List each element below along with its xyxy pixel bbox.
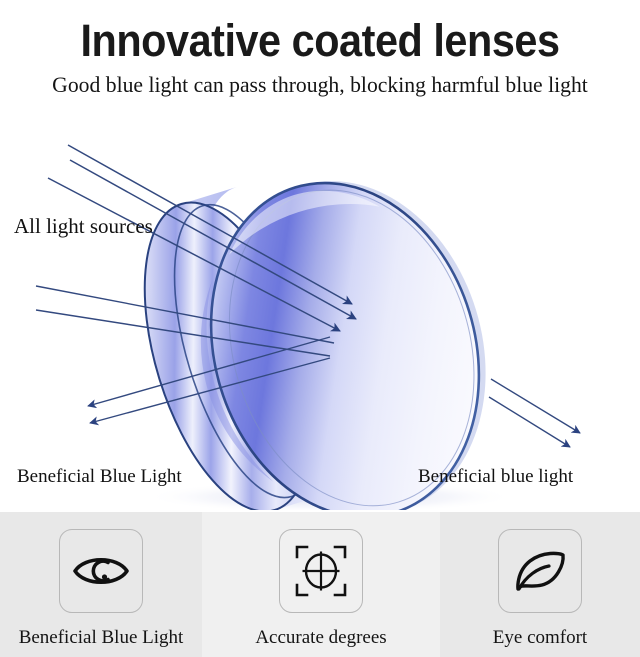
crosshair-icon: [294, 544, 348, 598]
label-beneficial-blue-light-right: Beneficial blue light: [418, 466, 573, 488]
feature-label: Beneficial Blue Light: [19, 627, 184, 649]
icon-frame: [279, 529, 363, 613]
passthrough-ray-2: [489, 397, 570, 447]
feature-card-eye-comfort[interactable]: Eye comfort: [440, 512, 640, 657]
page-title: Innovative coated lenses: [26, 16, 615, 66]
lens-diagram-svg: [0, 105, 640, 510]
promo-graphic: Innovative coated lenses Good blue light…: [0, 0, 640, 657]
eye-icon: [72, 551, 130, 591]
feature-label: Eye comfort: [493, 627, 587, 649]
label-all-light-sources: All light sources: [14, 214, 153, 239]
feature-card-beneficial-blue-light[interactable]: Beneficial Blue Light: [0, 512, 202, 657]
lens-diagram: [0, 105, 640, 510]
icon-frame: [59, 529, 143, 613]
leaf-icon: [512, 548, 568, 594]
feature-card-accurate-degrees[interactable]: Accurate degrees: [202, 512, 440, 657]
passthrough-rays-right: [489, 379, 580, 447]
header: Innovative coated lenses Good blue light…: [0, 0, 640, 108]
feature-bar: Beneficial Blue Light Accurate degrees: [0, 512, 640, 657]
label-beneficial-blue-light-left: Beneficial Blue Light: [17, 466, 182, 488]
page-subtitle: Good blue light can pass through, blocki…: [5, 71, 635, 98]
icon-frame: [498, 529, 582, 613]
feature-label: Accurate degrees: [255, 627, 386, 649]
